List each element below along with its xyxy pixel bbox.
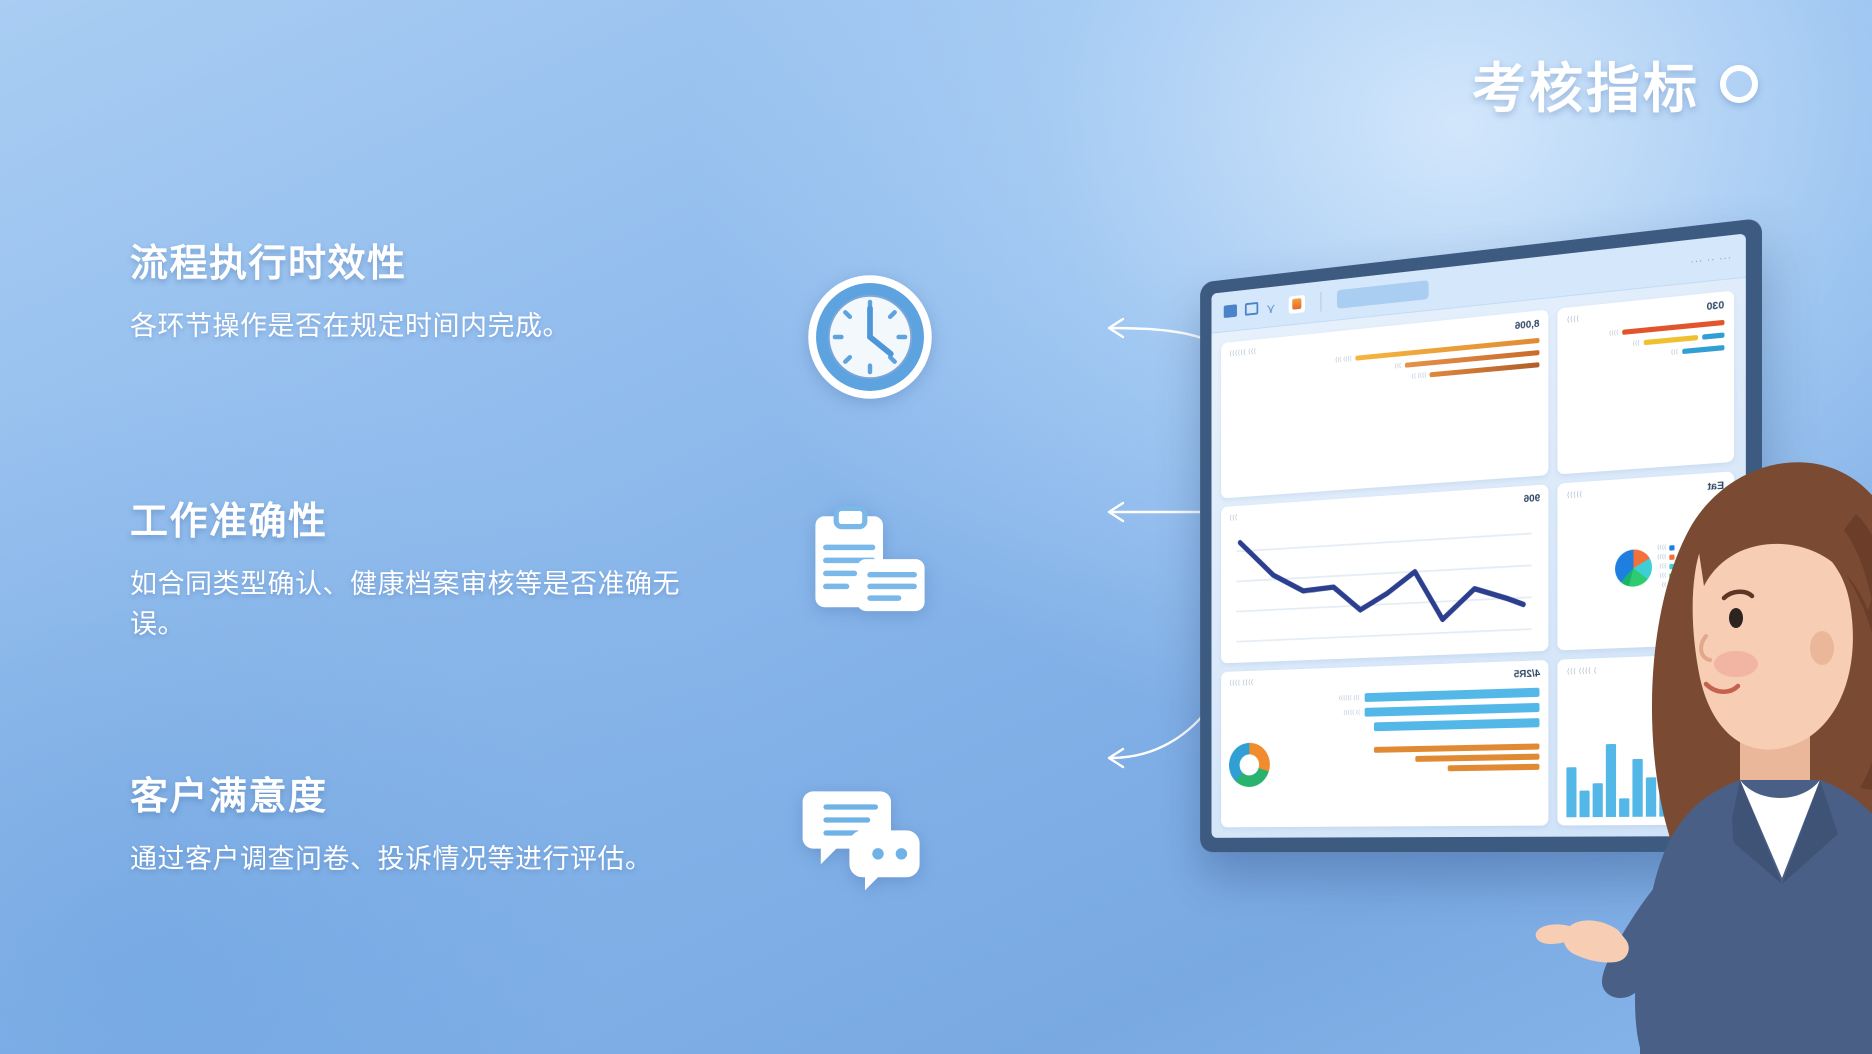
page-title-text: 考核指标 <box>1472 44 1700 123</box>
grid-icon[interactable] <box>1224 304 1237 318</box>
presenter-illustration <box>1490 318 1872 1054</box>
clipboard-documents-icon <box>805 498 935 628</box>
metric-description: 如合同类型确认、健康档案审核等是否准确无误。 <box>130 565 690 645</box>
clock-icon <box>805 272 935 402</box>
metric-block-work-accuracy: 工作准确性 如合同类型确认、健康档案审核等是否准确无误。 <box>130 490 690 645</box>
metric-description: 各环节操作是否在规定时间内完成。 <box>130 307 570 347</box>
search-input[interactable] <box>1337 280 1429 309</box>
toolbar-right-label: ··· ·· ··· <box>1690 251 1731 266</box>
award-badge-icon[interactable] <box>1289 294 1305 313</box>
metric-heading: 客户满意度 <box>130 765 653 820</box>
donut-chart <box>1229 742 1270 787</box>
card-value: 030 <box>1707 300 1725 313</box>
toolbar-divider <box>1320 292 1321 312</box>
chat-bubbles-icon <box>800 768 930 898</box>
card-title: ⟩⟩⟩ ⟩⟩⟩⟩⟩⟩ <box>1229 347 1256 357</box>
page-title: 考核指标 <box>1472 44 1758 123</box>
metric-heading: 流程执行时效性 <box>130 232 570 287</box>
metric-heading: 工作准确性 <box>130 490 690 545</box>
card-title: ⟩⟩⟩⟩ ⟩⟩⟩⟩ <box>1229 678 1253 686</box>
metric-description: 通过客户调查问卷、投诉情况等进行评估。 <box>130 840 653 880</box>
chart-icon[interactable]: ⋎ <box>1266 299 1280 314</box>
grid-icon-outline[interactable] <box>1245 302 1258 316</box>
metric-block-process-timeliness: 流程执行时效性 各环节操作是否在规定时间内完成。 <box>130 232 570 347</box>
infographic-canvas: 考核指标 流程执行时效性 各环节操作是否在规定时间内完成。 工作准确性 如合同类… <box>0 0 1872 1054</box>
ring-circle-icon <box>1720 65 1758 103</box>
card-title: ⟩⟩⟩ <box>1229 514 1237 522</box>
metric-block-customer-satisfaction: 客户满意度 通过客户调查问卷、投诉情况等进行评估。 <box>130 765 653 880</box>
